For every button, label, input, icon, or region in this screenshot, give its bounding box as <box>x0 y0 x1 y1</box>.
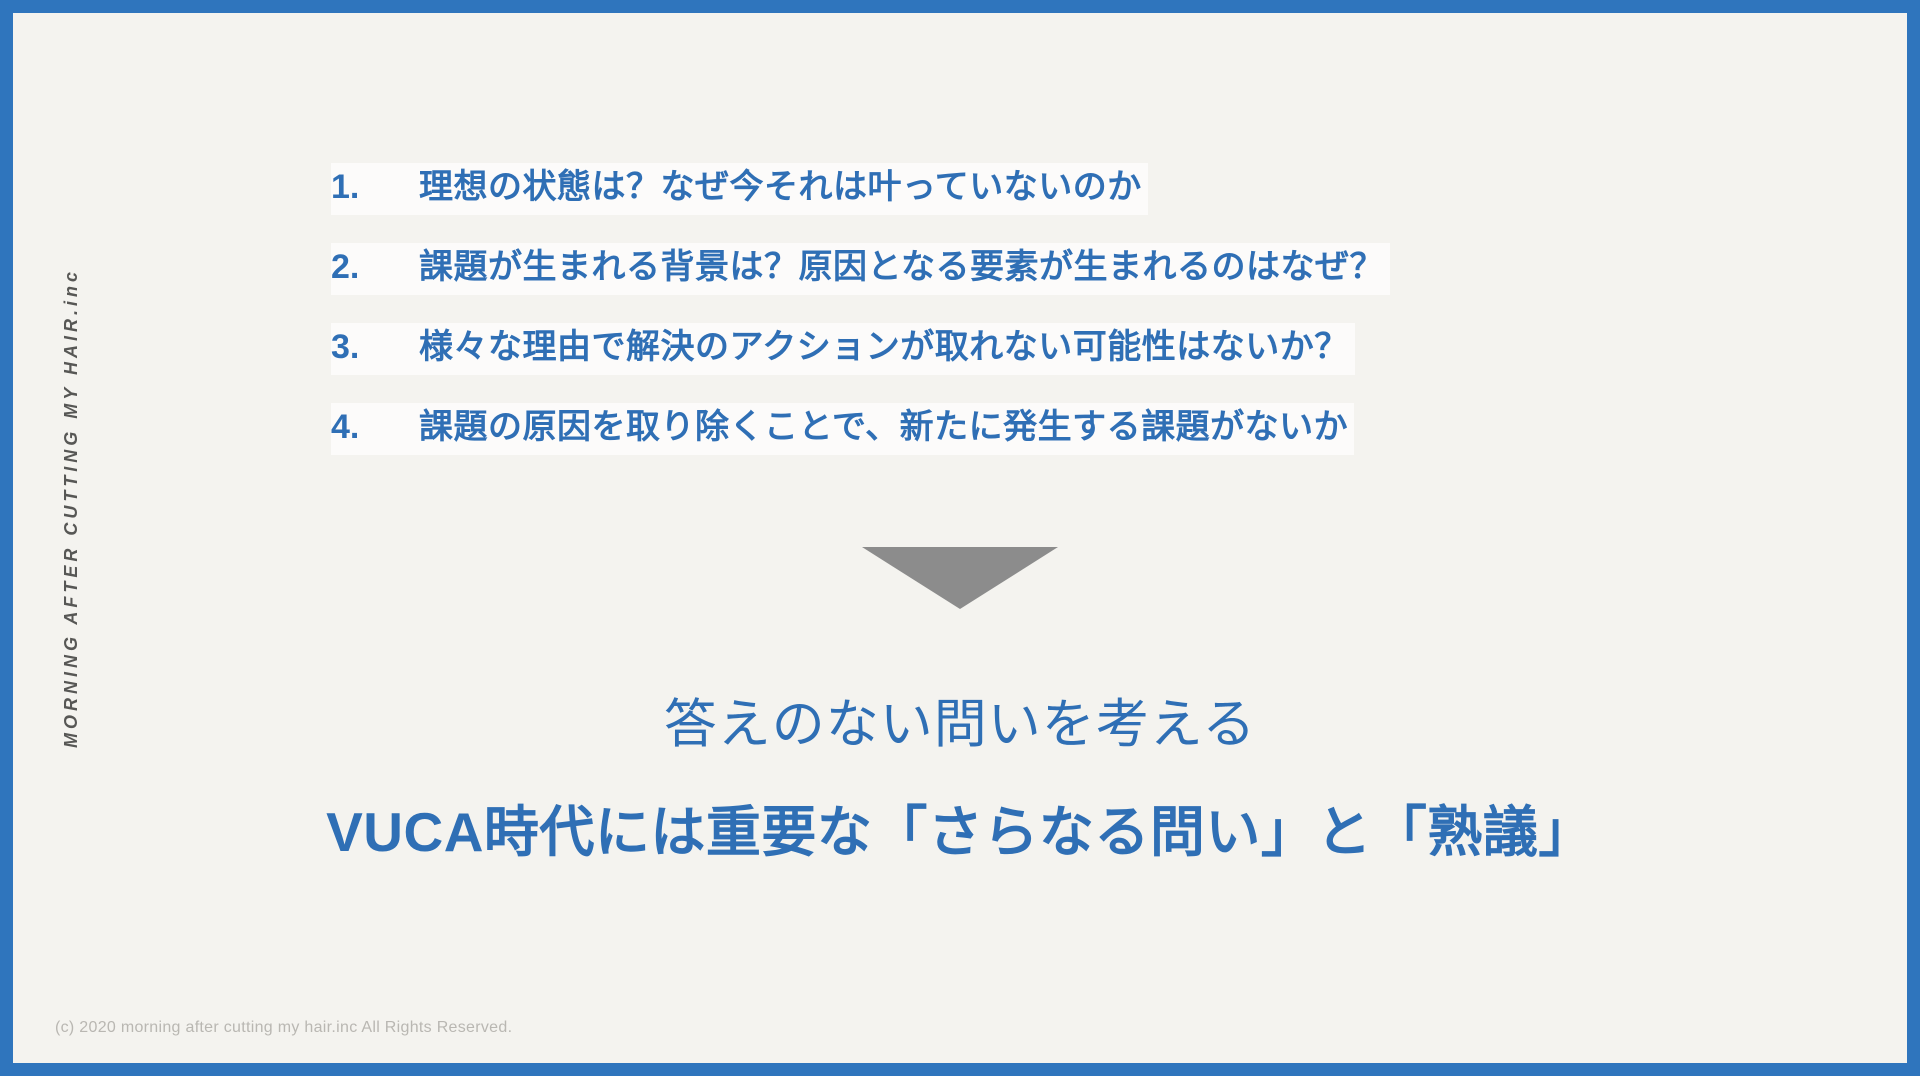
list-item: 2. 課題が生まれる背景は？原因となる要素が生まれるのはなぜ？ <box>331 243 1390 295</box>
list-item-number: 4. <box>331 405 419 451</box>
question-list: 1. 理想の状態は？なぜ今それは叶っていないのか 2. 課題が生まれる背景は？原… <box>331 163 1671 483</box>
list-item-number: 2. <box>331 245 419 291</box>
footer-copyright: (c) 2020 morning after cutting my hair.i… <box>55 1019 512 1037</box>
list-item-text: 課題が生まれる背景は？原因となる要素が生まれるのはなぜ？ <box>419 245 1384 291</box>
list-item-text: 様々な理由で解決のアクションが取れない可能性はないか？ <box>419 325 1349 371</box>
list-item-number: 3. <box>331 325 419 371</box>
brand-rail: MORNING AFTER CUTTING MY HAIR.inc <box>43 13 99 1063</box>
list-item-text: 理想の状態は？なぜ今それは叶っていないのか <box>419 165 1142 211</box>
list-item: 1. 理想の状態は？なぜ今それは叶っていないのか <box>331 163 1148 215</box>
list-item-text: 課題の原因を取り除くことで、新たに発生する課題がないか <box>419 405 1348 451</box>
slide-canvas: MORNING AFTER CUTTING MY HAIR.inc 1. 理想の… <box>0 0 1920 1076</box>
list-item: 3. 様々な理由で解決のアクションが取れない可能性はないか？ <box>331 323 1355 375</box>
down-triangle-icon <box>862 547 1058 609</box>
list-item: 4. 課題の原因を取り除くことで、新たに発生する課題がないか <box>331 403 1354 455</box>
brand-rail-label: MORNING AFTER CUTTING MY HAIR.inc <box>61 268 82 748</box>
divider-arrow-wrap <box>13 547 1907 609</box>
conclusion-block: 答えのない問いを考える VUCA時代には重要な「さらなる問い」と「熟議」 <box>13 685 1907 873</box>
conclusion-line-primary: 答えのない問いを考える <box>13 685 1907 765</box>
conclusion-line-emphasis: VUCA時代には重要な「さらなる問い」と「熟議」 <box>13 791 1907 874</box>
list-item-number: 1. <box>331 165 419 211</box>
